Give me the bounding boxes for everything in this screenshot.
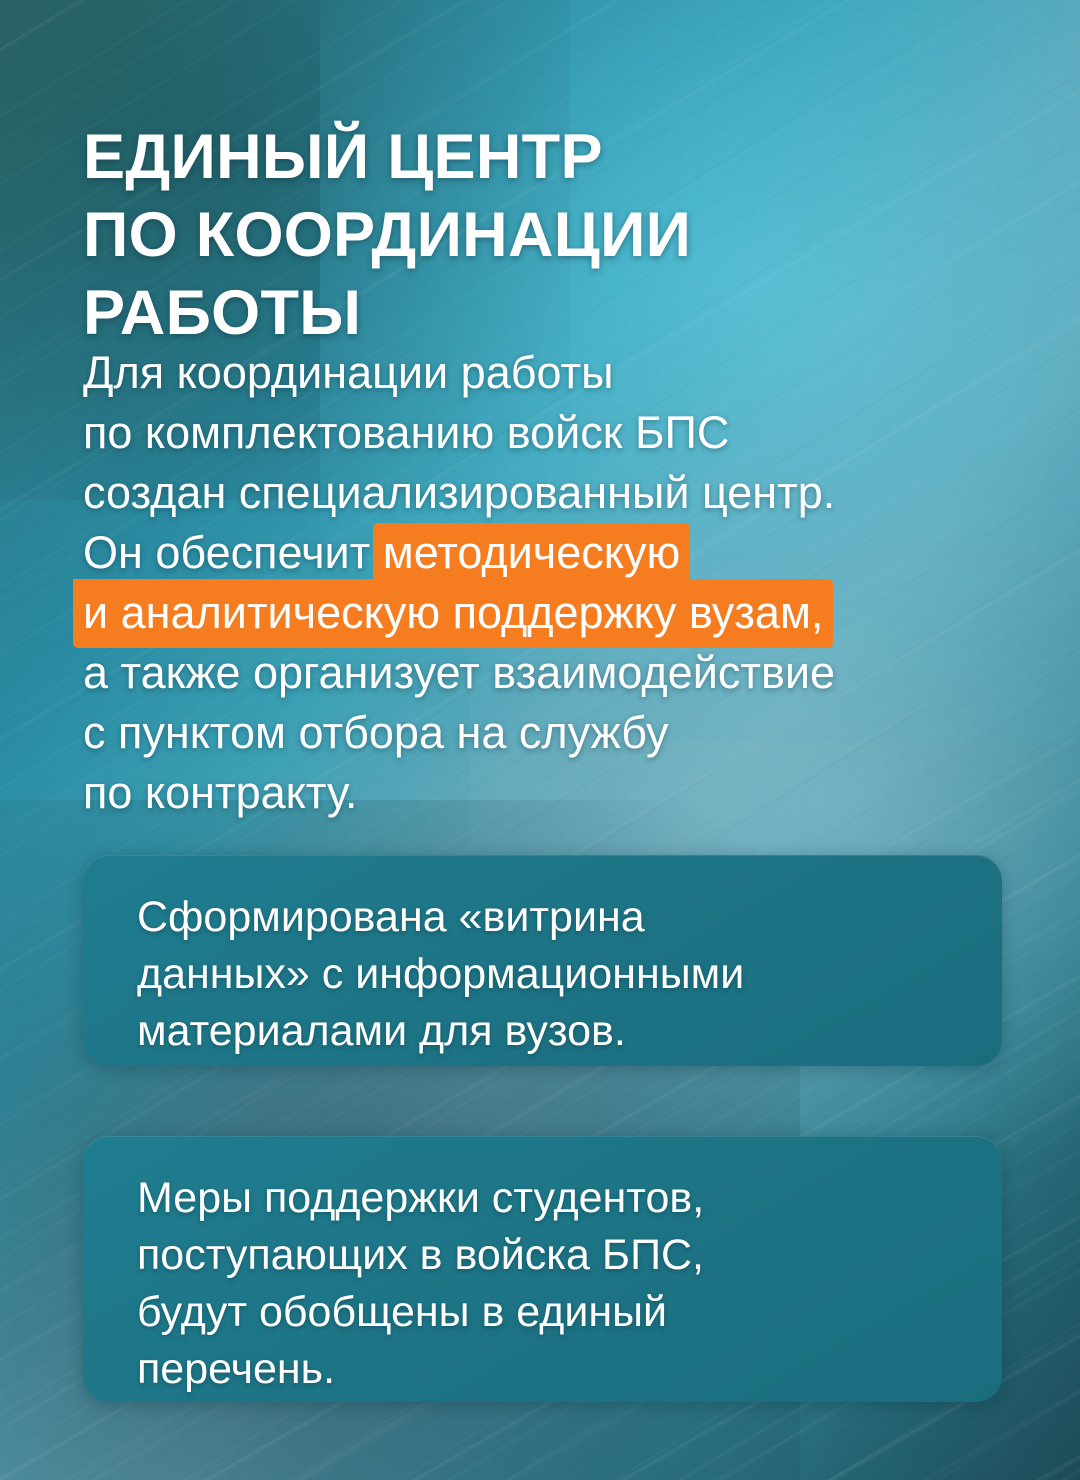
info-card-2-text: Меры поддержки студентов, поступающих в … bbox=[137, 1170, 956, 1398]
paragraph-line-5: и аналитическую поддержку вузам, bbox=[83, 583, 1023, 643]
paragraph-line-8: по контракту. bbox=[83, 763, 1023, 823]
info-card-2-line-1: Меры поддержки студентов, bbox=[137, 1170, 956, 1227]
poster-content: ЕДИНЫЙ ЦЕНТР ПО КООРДИНАЦИИ РАБОТЫ Для к… bbox=[0, 0, 1080, 1480]
paragraph-line-2: по комплектованию войск БПС bbox=[83, 403, 1023, 463]
info-card-1-line-2: данных» с информационными bbox=[137, 946, 956, 1003]
paragraph-line-4: Он обеспечит методическую bbox=[83, 523, 1023, 583]
poster-canvas: ЕДИНЫЙ ЦЕНТР ПО КООРДИНАЦИИ РАБОТЫ Для к… bbox=[0, 0, 1080, 1480]
paragraph-line-3: создан специализированный центр. bbox=[83, 463, 1023, 523]
page-title: ЕДИНЫЙ ЦЕНТР ПО КООРДИНАЦИИ РАБОТЫ bbox=[83, 118, 983, 352]
info-card-1-line-1: Сформирована «витрина bbox=[137, 889, 956, 946]
headline-line-3: РАБОТЫ bbox=[83, 274, 983, 352]
info-card-2-line-3: будут обобщены в единый bbox=[137, 1284, 956, 1341]
info-card-2-line-2: поступающих в войска БПС, bbox=[137, 1227, 956, 1284]
info-card-1-text: Сформирована «витрина данных» с информац… bbox=[137, 889, 956, 1060]
highlighted-text-bottom: и аналитическую поддержку вузам, bbox=[73, 579, 833, 648]
info-card-1-line-3: материалами для вузов. bbox=[137, 1003, 956, 1060]
info-card-data-showcase: Сформирована «витрина данных» с информац… bbox=[83, 855, 1002, 1066]
headline-line-2: ПО КООРДИНАЦИИ bbox=[83, 196, 983, 274]
paragraph-line-4-plain: Он обеспечит bbox=[83, 527, 383, 578]
info-card-2-line-4: перечень. bbox=[137, 1341, 956, 1398]
paragraph-line-6: а также организует взаимодействие bbox=[83, 643, 1023, 703]
intro-paragraph: Для координации работы по комплектованию… bbox=[83, 343, 1023, 823]
info-card-student-support: Меры поддержки студентов, поступающих в … bbox=[83, 1136, 1002, 1402]
paragraph-line-1: Для координации работы bbox=[83, 343, 1023, 403]
headline-line-1: ЕДИНЫЙ ЦЕНТР bbox=[83, 118, 983, 196]
paragraph-line-7: с пунктом отбора на службу bbox=[83, 703, 1023, 763]
